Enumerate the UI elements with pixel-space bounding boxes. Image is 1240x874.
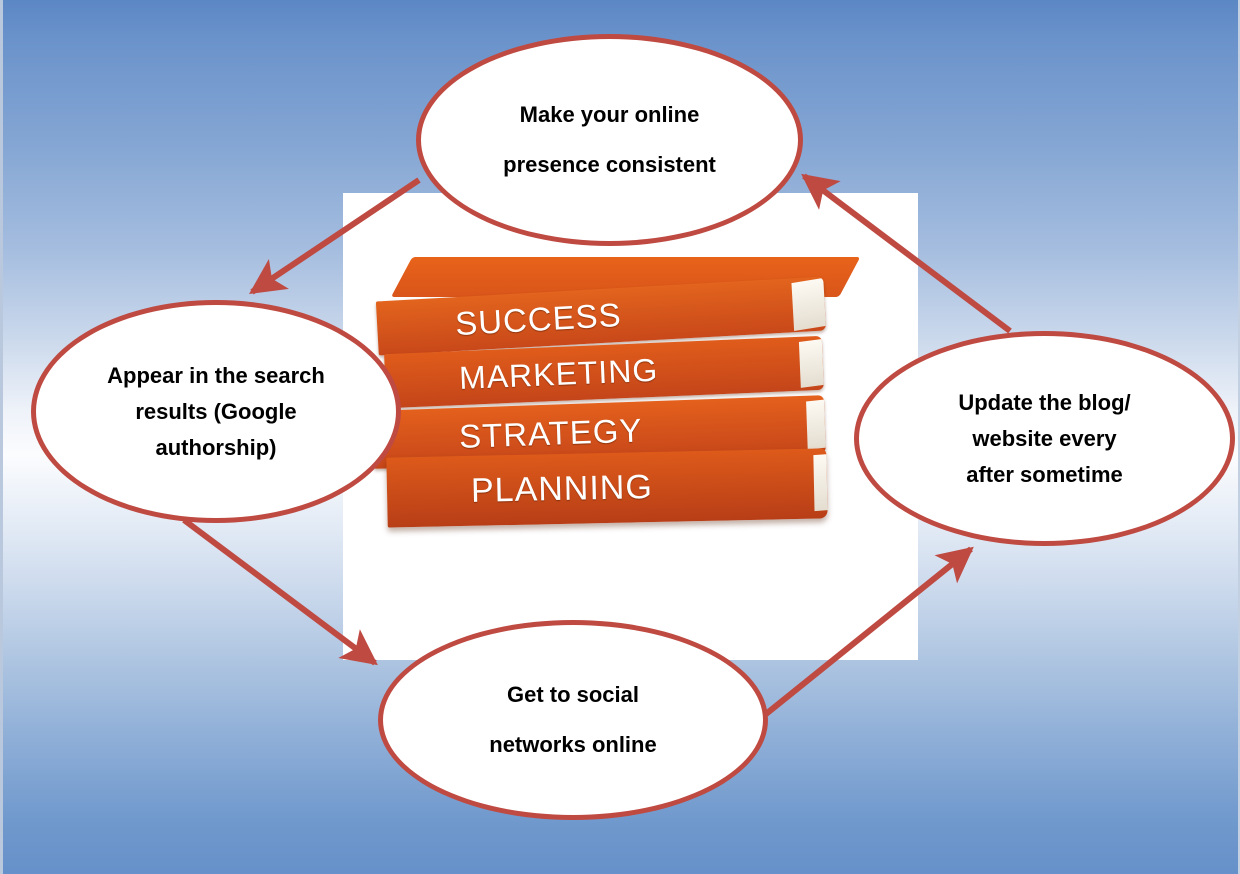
node-get-to-social-networks[interactable]: Get to social networks online (378, 620, 768, 820)
node-line: presence consistent (503, 152, 716, 178)
book-pages (806, 399, 826, 449)
book-stack-photo: SUCCESS MARKETING STRATEGY PLANNING (371, 257, 891, 597)
node-line: Make your online (520, 102, 700, 128)
node-line: Update the blog/ (958, 390, 1130, 416)
node-line: after sometime (966, 462, 1123, 488)
book-pages (813, 454, 827, 511)
book-spine-text: SUCCESS (454, 296, 622, 343)
node-make-presence-consistent[interactable]: Make your online presence consistent (416, 34, 803, 246)
diagram-canvas: SUCCESS MARKETING STRATEGY PLANNING (0, 0, 1240, 874)
book-pages (799, 339, 824, 388)
node-appear-in-search-results[interactable]: Appear in the search results (Google aut… (31, 300, 401, 523)
book-spine-text: STRATEGY (458, 411, 643, 455)
node-line: results (Google (135, 399, 296, 425)
node-line: Get to social (507, 682, 639, 708)
book-planning: PLANNING (386, 448, 827, 527)
node-line: networks online (489, 732, 656, 758)
node-line: authorship) (156, 435, 277, 461)
node-line: website every (972, 426, 1116, 452)
book-spine-text: MARKETING (458, 351, 659, 396)
book-pages (791, 278, 826, 331)
node-line: Appear in the search (107, 363, 325, 389)
book-spine-text: PLANNING (471, 468, 654, 511)
center-image-panel: SUCCESS MARKETING STRATEGY PLANNING (343, 193, 918, 660)
node-update-blog-website[interactable]: Update the blog/ website every after som… (854, 331, 1235, 546)
